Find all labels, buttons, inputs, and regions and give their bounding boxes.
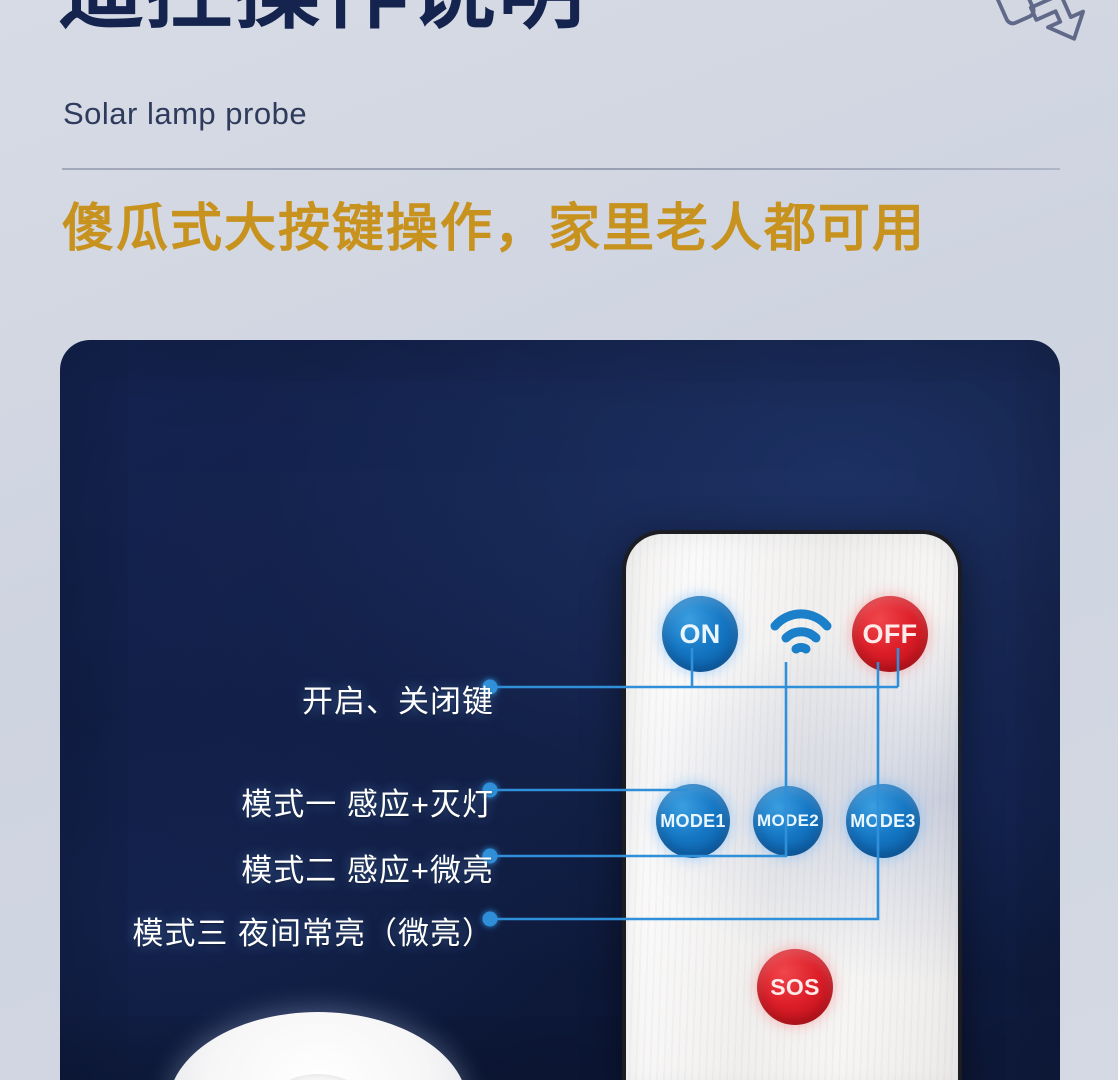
remote-control-body: ON OFF MODE1 MODE2 MODE3 SOS xyxy=(622,530,962,1080)
page-subtitle-en: Solar lamp probe xyxy=(63,96,307,132)
remote-button-sos[interactable]: SOS xyxy=(757,949,833,1025)
callout-label-onoff: 开启、关闭键 xyxy=(302,676,494,721)
wifi-signal-icon xyxy=(770,606,832,662)
callout-label-mode2: 模式二 感应+微亮 xyxy=(241,845,494,890)
product-showcase-panel: ON OFF MODE1 MODE2 MODE3 SOS xyxy=(60,340,1060,1080)
page-title: 遥控操作说明 xyxy=(58,0,586,34)
callout-label-mode1: 模式一 感应+灭灯 xyxy=(241,779,494,824)
remote-button-mode1[interactable]: MODE1 xyxy=(656,784,730,858)
remote-button-mode2[interactable]: MODE2 xyxy=(753,786,823,856)
remote-control-icon xyxy=(977,0,1104,77)
remote-button-mode3[interactable]: MODE3 xyxy=(846,784,920,858)
header-divider xyxy=(62,168,1060,170)
page-root: 遥控操作说明 Solar lamp probe 傻瓜式大按键操作，家里老人都可用… xyxy=(0,0,1118,1080)
callout-label-mode3: 模式三 夜间常亮（微亮） xyxy=(132,908,494,953)
remote-button-on[interactable]: ON xyxy=(662,596,738,672)
highlight-tagline: 傻瓜式大按键操作，家里老人都可用 xyxy=(62,200,926,260)
remote-button-off[interactable]: OFF xyxy=(852,596,928,672)
ceiling-lamp-icon xyxy=(168,1012,468,1080)
